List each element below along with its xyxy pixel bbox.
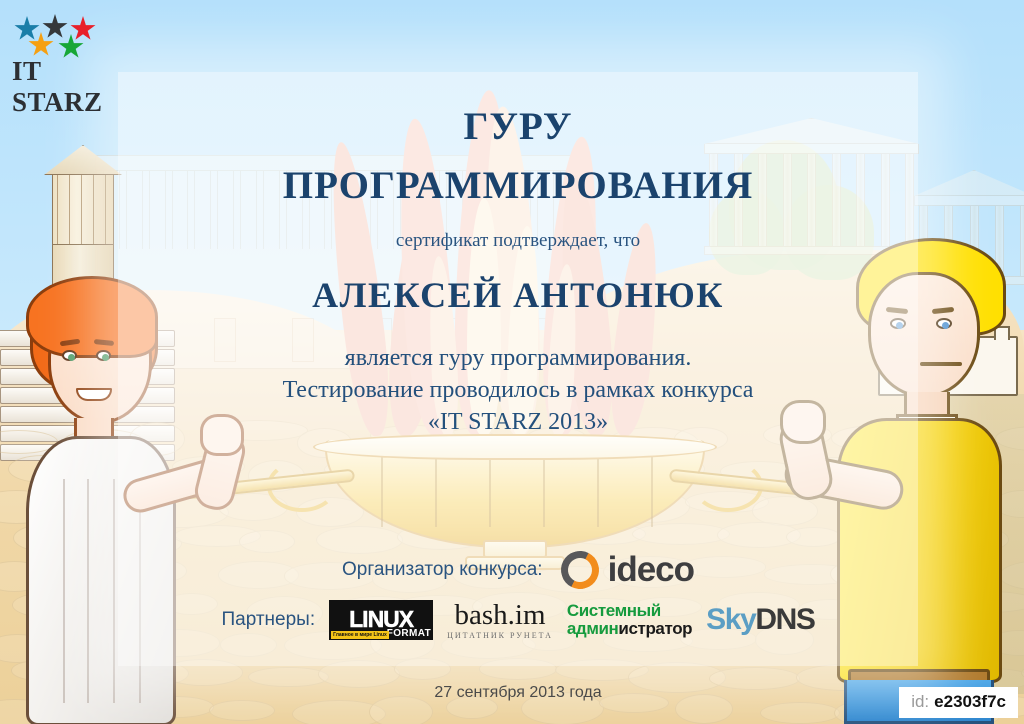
sysadm-line-1: Системный bbox=[567, 601, 661, 620]
certificate-id-badge: id:e2303f7c bbox=[899, 687, 1018, 718]
sysadm-line-2-black: истратор bbox=[618, 619, 692, 638]
organizer-row: Организатор конкурса: ideco bbox=[118, 550, 918, 590]
partner-logo-linux-format: LINUX FORMAT Главное в мире Linux bbox=[329, 600, 433, 640]
star-icon bbox=[14, 16, 40, 42]
id-value: e2303f7c bbox=[934, 692, 1006, 711]
partners-label: Партнеры: bbox=[221, 609, 315, 631]
partner-logo-bash-im: bash.im ЦИТАТНИК РУНЕТА bbox=[447, 601, 553, 640]
recipient-name: АЛЕКСЕЙ АНТОНЮК bbox=[118, 274, 918, 316]
bash-im-main: bash.im bbox=[454, 601, 545, 630]
stars-mark bbox=[12, 14, 116, 58]
skydns-dns: DNS bbox=[755, 603, 814, 636]
bash-im-secondary: ЦИТАТНИК РУНЕТА bbox=[447, 631, 553, 640]
star-icon bbox=[58, 34, 84, 60]
star-icon bbox=[70, 16, 96, 42]
ideco-wordmark: ideco bbox=[608, 550, 694, 590]
linux-format-tagline: Главное в мире Linux bbox=[331, 631, 389, 639]
organizer-label: Организатор конкурса: bbox=[342, 559, 543, 581]
certificate-title-line-1: ГУРУ bbox=[118, 104, 918, 149]
certificate-body: является гуру программирования. Тестиров… bbox=[118, 342, 918, 438]
ideco-swirl-icon bbox=[561, 551, 599, 589]
sysadm-line-2-green: админ bbox=[567, 619, 619, 638]
it-starz-logo: IT STARZ bbox=[12, 14, 116, 118]
linux-format-secondary: FORMAT bbox=[387, 628, 431, 639]
certificate-confirm-text: сертификат подтверждает, что bbox=[118, 230, 918, 252]
id-label: id: bbox=[911, 692, 929, 711]
body-line-1: является гуру программирования. bbox=[118, 342, 918, 374]
certificate-content: ГУРУ ПРОГРАММИРОВАНИЯ сертификат подтвер… bbox=[118, 72, 918, 666]
ideco-logo: ideco bbox=[561, 550, 694, 590]
issue-date: 27 сентября 2013 года bbox=[118, 684, 918, 702]
certificate-title-line-2: ПРОГРАММИРОВАНИЯ bbox=[118, 163, 918, 208]
skydns-sky: Sky bbox=[706, 603, 755, 636]
certificate-canvas: IT STARZ ГУРУ ПРОГРАММИРОВАНИЯ сертифика… bbox=[0, 0, 1024, 724]
star-icon bbox=[42, 14, 68, 40]
body-line-2: Тестирование проводилось в рамках конкур… bbox=[118, 374, 918, 406]
body-line-3: «IT STARZ 2013» bbox=[118, 406, 918, 438]
partner-logo-skydns: SkyDNS bbox=[706, 605, 814, 635]
partner-logo-sistemny-administrator: Системный администратор bbox=[567, 602, 692, 638]
logo-wordmark: IT STARZ bbox=[12, 56, 116, 118]
partners-row: Партнеры: LINUX FORMAT Главное в мире Li… bbox=[118, 600, 918, 640]
